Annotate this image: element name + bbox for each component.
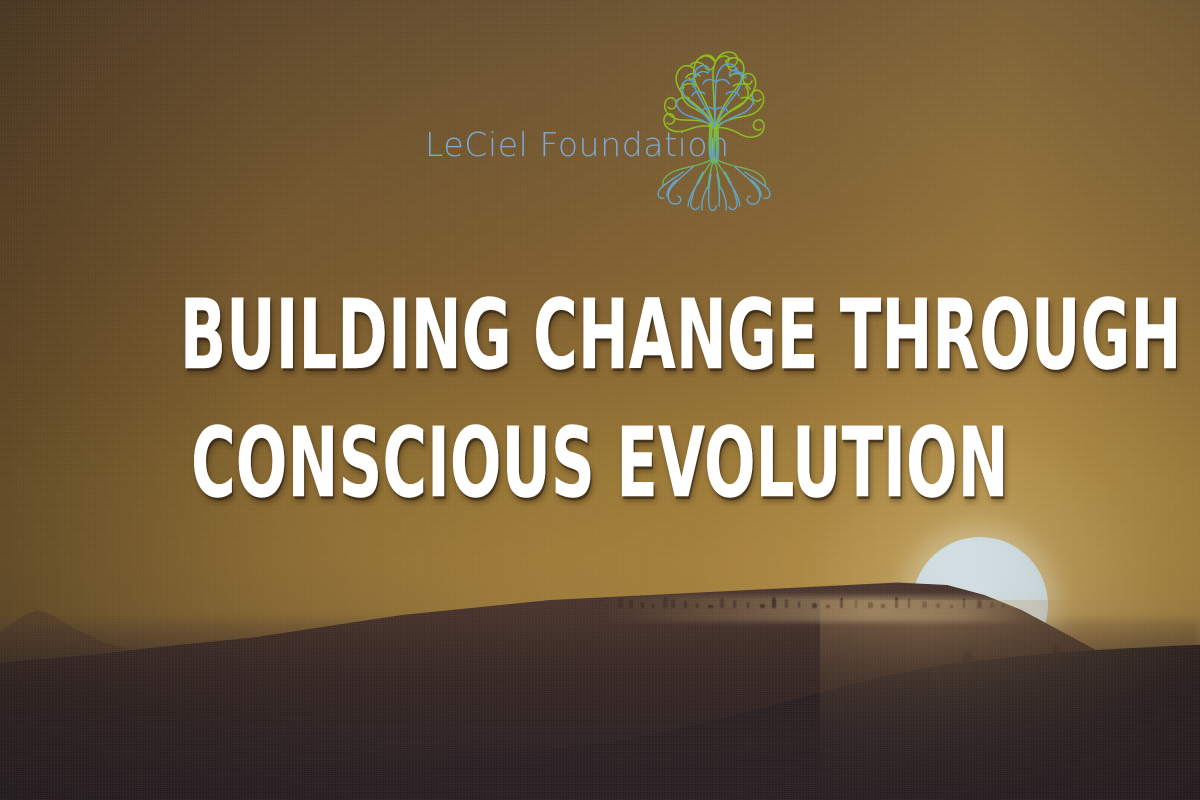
tree-silhouettes <box>0 640 1200 800</box>
logo[interactable]: LeCiel Foundation <box>425 32 785 214</box>
tree-logo-icon <box>653 32 777 214</box>
logo-wordmark: LeCiel Foundation <box>425 128 687 161</box>
hero-banner: LeCiel Foundation <box>0 0 1200 800</box>
crest-vegetation <box>600 586 1020 608</box>
